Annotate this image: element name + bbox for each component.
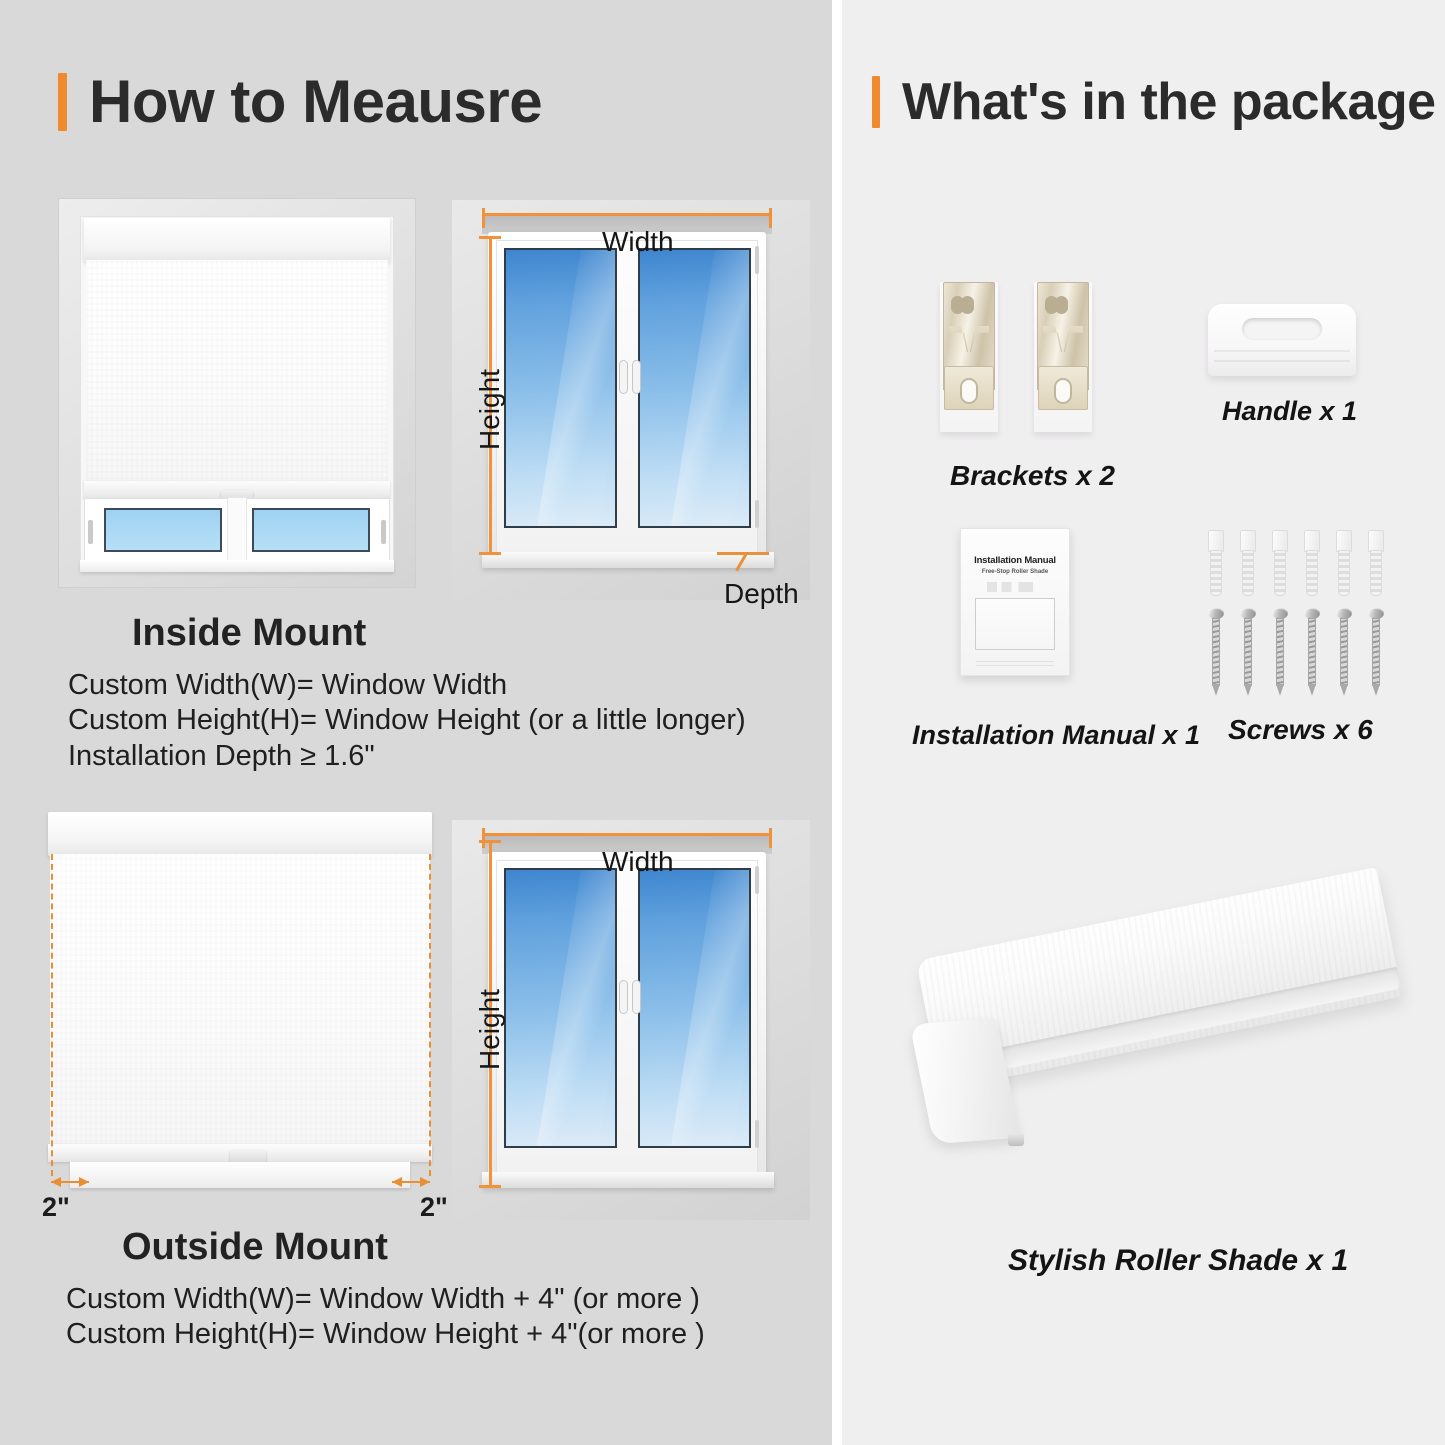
screw-tip [1308,684,1316,696]
window-handle-right [632,360,641,394]
screw-2 [1240,608,1256,694]
roller-shade-product [912,900,1432,1200]
outside-mount-shade-illustration: 2" 2" [30,810,450,1200]
screws-label: Screws x 6 [1228,714,1373,746]
window-hinge-left [88,520,93,544]
window-glass-right [638,868,751,1148]
infographic-page: How to Meausre Width [0,0,1445,1445]
window-handle-right [632,980,641,1014]
overhang-label-left: 2" [42,1192,70,1223]
package-title: What's in the package [902,76,1436,128]
screw-4 [1304,608,1320,694]
glass-pane-left [104,508,222,552]
glass-pane-right [252,508,370,552]
width-dimension-line [482,213,772,216]
outside-mount-description: Custom Width(W)= Window Width + 4" (or m… [66,1282,705,1353]
window-hinge-bottom [755,1120,759,1148]
height-cap-top [479,840,501,843]
inside-mount-title: Inside Mount [132,612,366,655]
depth-label: Depth [724,578,799,610]
how-to-measure-title: How to Meausre [89,72,542,132]
handle-ridge-1 [1214,350,1350,352]
screw-tip [1340,684,1348,696]
wall-anchor-2 [1240,530,1256,596]
brackets-label: Brackets x 2 [950,460,1115,492]
handle-grip-slot [1242,318,1322,340]
bracket-screw-hole [1054,378,1072,404]
anchor-body [1338,550,1350,596]
wall-anchor-1 [1208,530,1224,596]
bracket-part-2 [1034,282,1092,432]
screw-1 [1208,608,1224,694]
manual-cover-illustration-box [975,598,1055,650]
anchor-body [1274,550,1286,596]
shade-fabric [50,854,430,1148]
outside-mount-line-2: Custom Height(H)= Window Height + 4"(or … [66,1317,705,1352]
width-cap-right [769,208,772,228]
panel-divider [832,0,842,1445]
overhang-guide-left [51,854,53,1176]
screw-tip [1244,684,1252,696]
window-hinge-top [755,246,759,274]
height-label: Height [474,989,506,1070]
manual-cover-footer-text [976,658,1054,670]
screw-shaft [1372,618,1380,686]
window-sill [482,1172,774,1188]
screw-3 [1272,608,1288,694]
outside-mount-line-1: Custom Width(W)= Window Width + 4" (or m… [66,1282,705,1317]
inside-mount-description: Custom Width(W)= Window Width Custom Hei… [68,668,746,774]
window-hinge-top [755,866,759,894]
package-heading: What's in the package [872,76,1436,128]
manual-label: Installation Manual x 1 [912,720,1200,751]
window-sill [70,1162,410,1188]
anchor-body [1210,550,1222,596]
inside-mount-line-2: Custom Height(H)= Window Height (or a li… [68,703,746,738]
shade-valance [84,218,390,262]
overhang-label-right: 2" [420,1192,448,1223]
window-sill [80,560,394,572]
bracket-part-1 [940,282,998,432]
wall-anchor-3 [1272,530,1288,596]
manual-cover-graphic [987,582,1043,592]
window-hinge-right [381,520,386,544]
screw-5 [1336,608,1352,694]
width-label: Width [602,226,674,258]
width-dimension-line [482,833,772,836]
window-glass-left [504,248,617,528]
accent-bar-icon [872,76,880,128]
overhang-guide-right [429,854,431,1176]
screw-shaft [1340,618,1348,686]
shade-fabric [86,260,388,485]
width-cap-left [482,828,485,848]
width-cap-right [769,828,772,848]
screw-shaft [1212,618,1220,686]
window-mullion [228,498,246,564]
window-handle-left [619,980,628,1014]
screw-shaft [1308,618,1316,686]
installation-manual-part: Installation Manual Free-Stop Roller Sha… [960,528,1070,676]
inside-mount-shade-illustration [58,198,416,588]
screw-shaft [1244,618,1252,686]
width-cap-left [482,208,485,228]
manual-cover-subtitle: Free-Stop Roller Shade [971,569,1059,575]
height-cap-bottom [479,552,501,555]
window-hinge-bottom [755,500,759,528]
handle-label: Handle x 1 [1222,396,1357,427]
anchor-head [1208,530,1224,552]
anchor-body [1370,550,1382,596]
anchor-head [1240,530,1256,552]
anchor-head [1336,530,1352,552]
wall-anchor-5 [1336,530,1352,596]
overhang-arrow-line [392,1181,430,1183]
anchor-head [1368,530,1384,552]
anchor-body [1306,550,1318,596]
window-glass-left [504,868,617,1148]
outside-mount-measure-diagram: Width Height [452,820,810,1220]
height-cap-bottom [479,1185,501,1188]
screw-tip [1372,684,1380,696]
height-cap-top [479,236,501,239]
height-label: Height [474,369,506,450]
overhang-arrow-line [51,1181,89,1183]
inside-mount-line-3: Installation Depth ≥ 1.6" [68,739,746,774]
screw-tip [1276,684,1284,696]
window-handle-left [619,360,628,394]
handle-part [1208,304,1356,376]
manual-cover-title: Installation Manual [971,555,1059,566]
outside-mount-title: Outside Mount [122,1226,388,1269]
inside-mount-measure-diagram: Width Height Depth [452,200,810,600]
handle-ridge-2 [1214,360,1350,362]
roller-shade-end-pin [1008,1133,1024,1146]
accent-bar-icon [58,73,67,131]
how-to-measure-heading: How to Meausre [58,72,542,132]
shade-valance [48,812,432,856]
anchor-body [1242,550,1254,596]
wall-anchor-4 [1304,530,1320,596]
screw-shaft [1276,618,1284,686]
anchor-head [1272,530,1288,552]
width-label: Width [602,846,674,878]
bracket-screw-hole [960,378,978,404]
wall-anchor-6 [1368,530,1384,596]
window-glass-right [638,248,751,528]
screw-6 [1368,608,1384,694]
screw-tip [1212,684,1220,696]
inside-mount-line-1: Custom Width(W)= Window Width [68,668,746,703]
anchor-head [1304,530,1320,552]
roller-shade-label: Stylish Roller Shade x 1 [1008,1244,1348,1278]
